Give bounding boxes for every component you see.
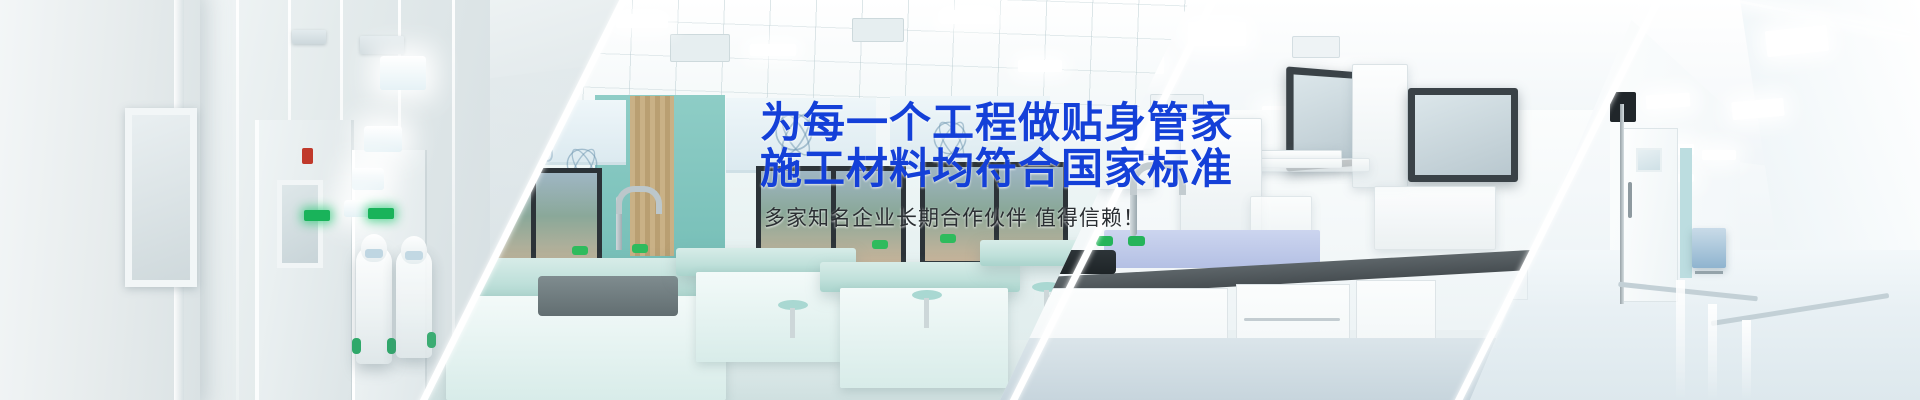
lab-sink [538, 276, 678, 316]
gas-tap-icon [1096, 236, 1113, 246]
wood-slat-panel [630, 96, 674, 256]
ceiling-air-vent [1292, 36, 1340, 58]
worker-glove [427, 332, 436, 348]
ceiling-panel-light [1188, 22, 1246, 46]
door-viewport [277, 180, 323, 268]
hero-banner: 为每一个工程做贴身管家 施工材料均符合国家标准 多家知名企业长期合作伙伴 值得信… [0, 0, 1920, 400]
window-mullion [531, 173, 536, 269]
worker-mask [365, 249, 383, 258]
cleanroom-worker [396, 248, 432, 358]
exit-sign [304, 210, 330, 221]
ceiling-lamp [940, 10, 996, 24]
ceiling-air-vent [670, 34, 730, 62]
banner-copy: 为每一个工程做贴身管家 施工材料均符合国家标准 多家知名企业长期合作伙伴 值得信… [760, 100, 1233, 232]
lab-stool [912, 290, 942, 300]
fire-alarm-icon [302, 148, 313, 164]
gas-tap-icon [632, 244, 648, 253]
floor-reflection [1708, 304, 1717, 400]
headline-line-1: 为每一个工程做贴身管家 [760, 100, 1233, 146]
hospital-cart [1692, 228, 1726, 268]
floor-reflection [1742, 320, 1751, 400]
wall-accent-strip [1680, 148, 1692, 278]
under-bench-unit [1374, 186, 1496, 250]
air-vent [360, 36, 404, 54]
banner-subtitle: 多家知名企业长期合作伙伴 值得信赖！ [764, 206, 1233, 232]
ceiling-lamp [344, 200, 370, 217]
ceiling-lamp [616, 14, 668, 28]
drawer-handle [1244, 318, 1340, 321]
floor-reflection [1676, 280, 1685, 400]
gas-tap-icon [940, 234, 956, 243]
wall-seam [236, 0, 239, 400]
ceiling-lamp [380, 56, 426, 90]
door-rail [1620, 104, 1624, 304]
lab-stool [778, 300, 808, 310]
worker-glove [387, 338, 396, 354]
ceiling-lamp [364, 126, 402, 152]
ceiling-lamp [352, 168, 384, 190]
wall-cabinet-glass-door [1408, 88, 1518, 182]
worker-mask [405, 251, 423, 260]
foreground-door-window [125, 108, 197, 287]
ceiling-lamp [750, 44, 796, 56]
exit-sign [368, 208, 394, 219]
headline-line-2: 施工材料均符合国家标准 [760, 146, 1233, 192]
ceiling-lamp [1018, 60, 1062, 72]
door-handle [1628, 182, 1632, 218]
gas-tap-icon [872, 240, 888, 249]
cleanroom-worker [356, 246, 392, 364]
door-vision-panel [1636, 148, 1662, 172]
ceiling-panel-light [1702, 150, 1736, 160]
gas-tap-icon [572, 246, 588, 255]
worker-glove [352, 338, 361, 354]
gas-tap-icon [1128, 236, 1145, 246]
ceiling-air-vent [852, 18, 904, 42]
air-vent [292, 30, 326, 44]
lab-faucet [616, 196, 622, 250]
